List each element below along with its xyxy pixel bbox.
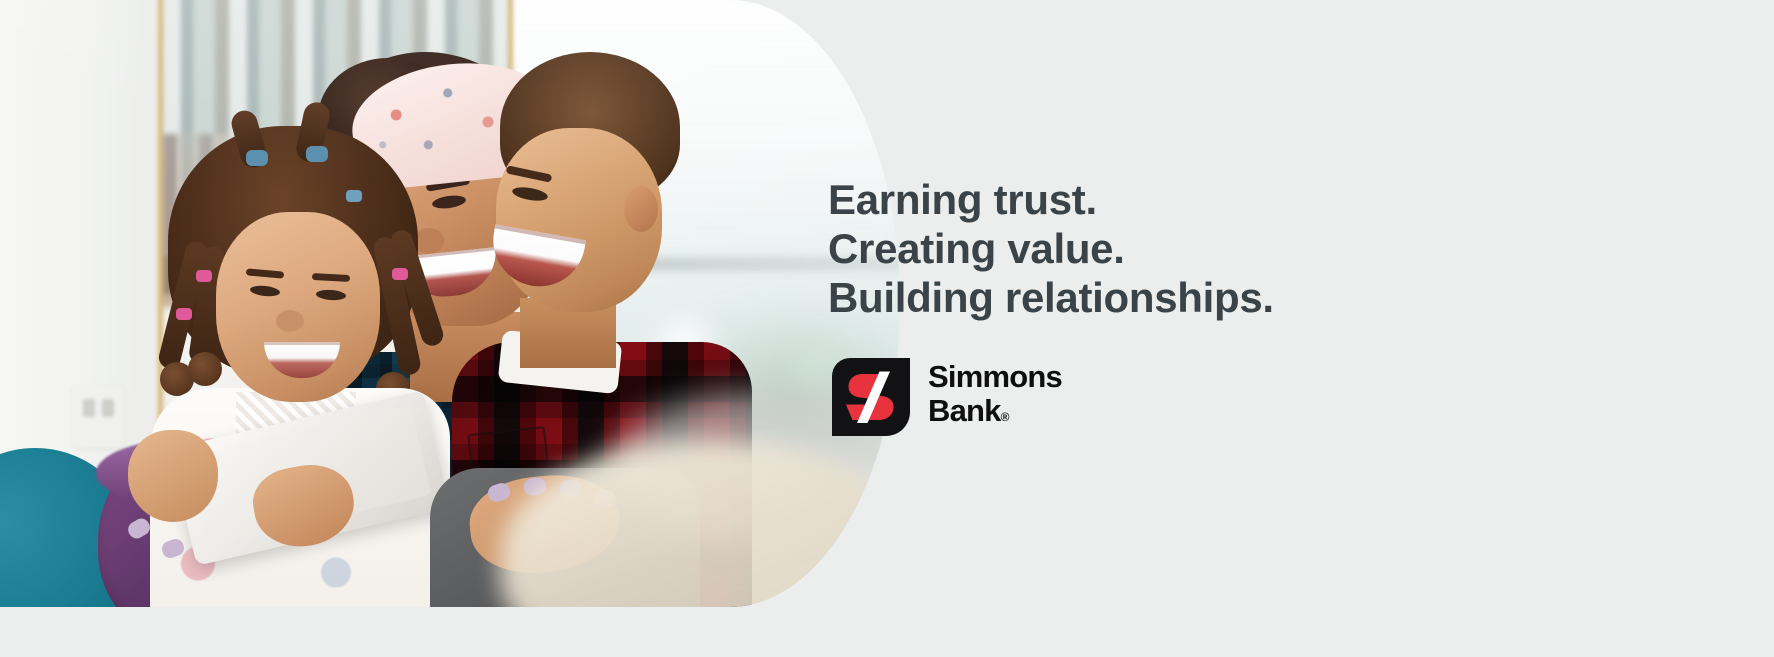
hero-photo: [0, 0, 900, 607]
girl-hair-bead: [392, 268, 408, 280]
mother-nose: [414, 228, 444, 254]
registered-trademark-icon: ®: [1001, 410, 1010, 424]
headline-block: Earning trust. Creating value. Building …: [828, 175, 1708, 322]
girl-hair-bead: [306, 146, 328, 162]
girl-left-hand: [128, 430, 218, 522]
hero-photo-panel: [0, 0, 900, 607]
girl-hair-bead: [346, 190, 362, 202]
simmons-bank-logo[interactable]: Simmons Bank®: [832, 358, 1062, 436]
banner-content: Earning trust. Creating value. Building …: [828, 0, 1774, 657]
hero-photo-clip: [0, 0, 900, 607]
headline-line-1: Earning trust.: [828, 175, 1708, 224]
wordmark-bank-text: Bank: [928, 393, 1001, 428]
girl-nose: [276, 310, 304, 332]
wall-outlet: [72, 386, 124, 448]
girl-hair-bead: [196, 270, 212, 282]
simmons-bank-wordmark: Simmons Bank®: [928, 360, 1062, 434]
headline-line-3: Building relationships.: [828, 273, 1708, 322]
simmons-bank-s-mark-icon: [832, 358, 910, 436]
promotional-banner: Earning trust. Creating value. Building …: [0, 0, 1774, 657]
girl-hair-bead: [176, 308, 192, 320]
girl-hair-bead: [246, 150, 268, 166]
wordmark-bank: Bank®: [928, 394, 1062, 434]
boy-ear: [624, 186, 658, 232]
wordmark-simmons: Simmons: [928, 360, 1062, 394]
headline-line-2: Creating value.: [828, 224, 1708, 273]
girl-hair-puff: [188, 352, 222, 386]
